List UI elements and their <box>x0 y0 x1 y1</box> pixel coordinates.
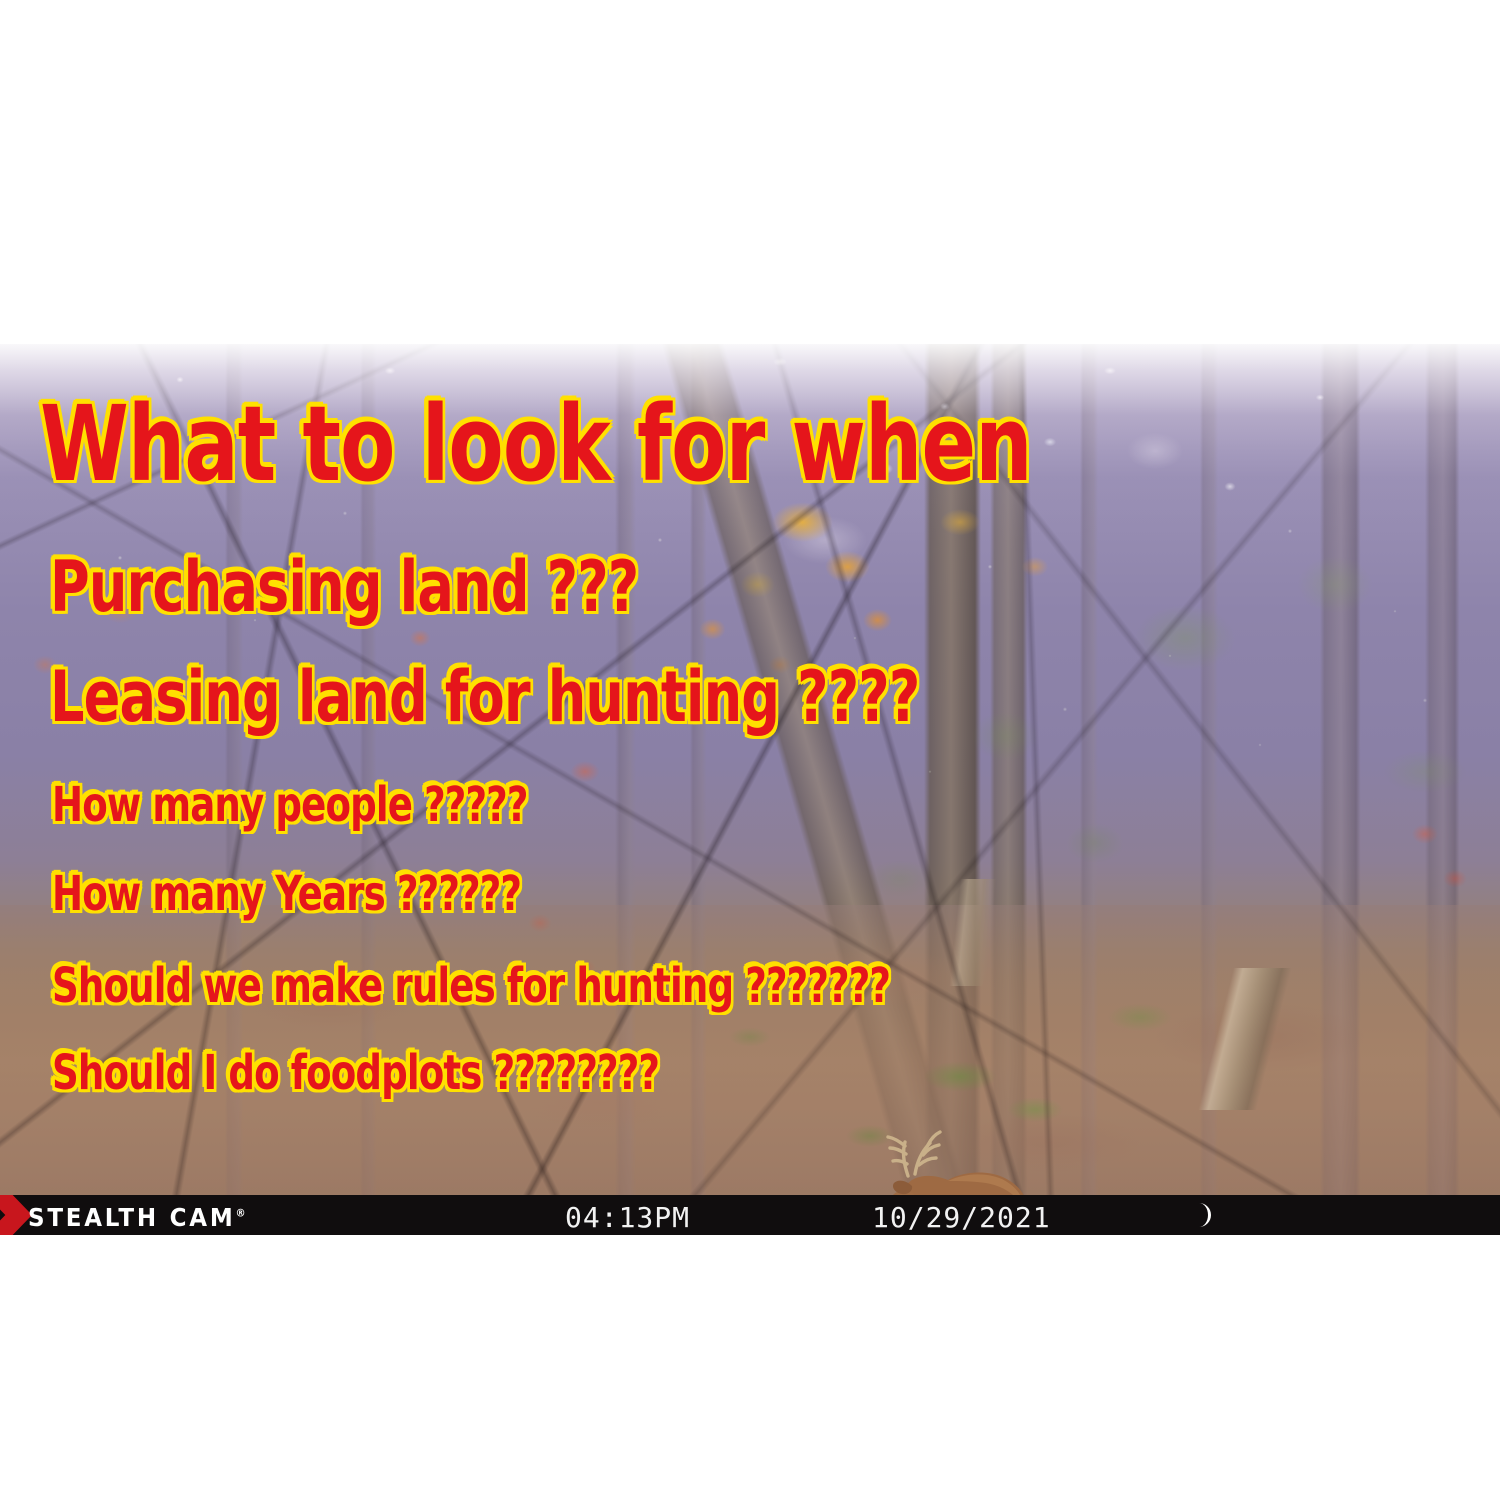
sky-haze <box>0 344 1500 1235</box>
stealth-cam-logo: STEALTH CAM® <box>28 1203 246 1232</box>
camera-info-bar: STEALTH CAM® 04:13PM 10/29/2021 <box>0 1195 1500 1235</box>
brand-name: STEALTH CAM <box>28 1203 235 1232</box>
capture-time: 04:13PM <box>565 1201 690 1234</box>
capture-date: 10/29/2021 <box>872 1201 1051 1234</box>
moon-phase-icon <box>1186 1202 1212 1228</box>
registered-mark: ® <box>235 1207 245 1220</box>
trail-camera-photo <box>0 344 1500 1235</box>
slide-canvas: What to look for when Purchasing land ??… <box>0 0 1500 1500</box>
